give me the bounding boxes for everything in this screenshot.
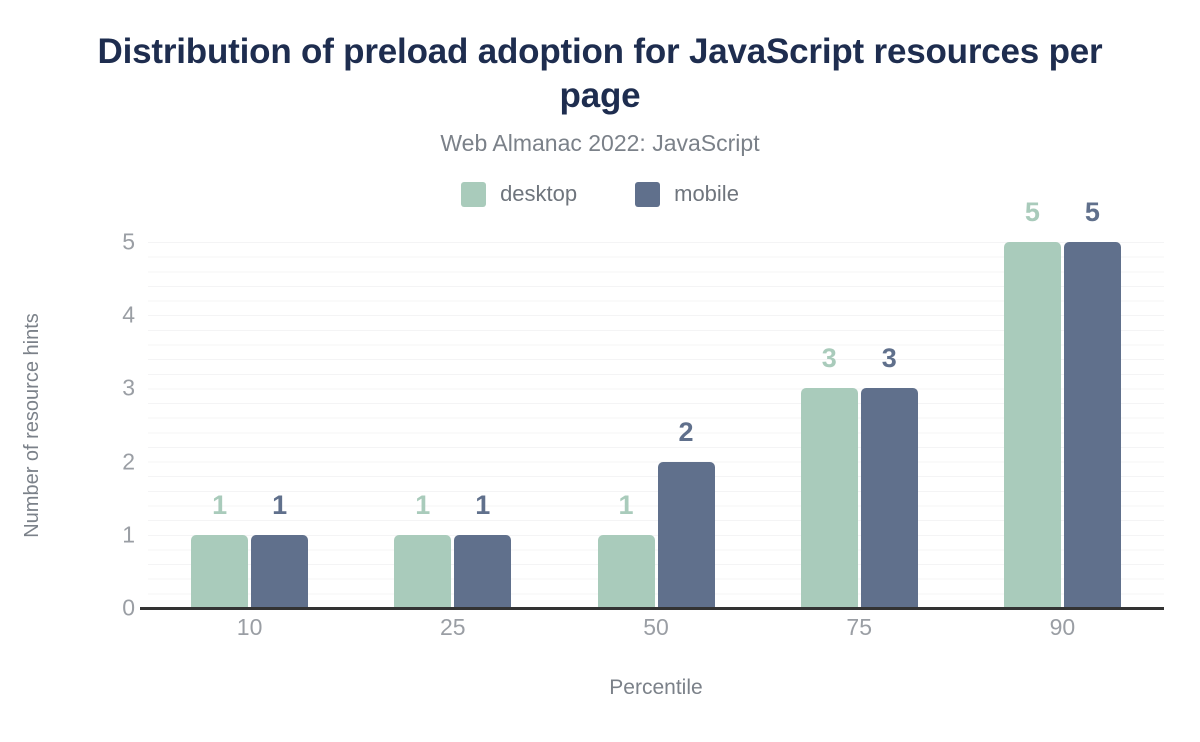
- x-axis-title: Percentile: [148, 676, 1164, 700]
- bar-group: 11: [148, 242, 351, 608]
- bar-mobile[interactable]: [454, 535, 511, 608]
- x-tick-label: 90: [961, 614, 1164, 641]
- y-tick-label: 3: [95, 375, 135, 402]
- x-axis-line: [140, 607, 1164, 610]
- bar-value-label: 2: [658, 417, 715, 448]
- legend-item-mobile[interactable]: mobile: [635, 181, 739, 207]
- bar-value-label: 1: [454, 490, 511, 521]
- legend-item-desktop[interactable]: desktop: [461, 181, 577, 207]
- bar-wrap-mobile: 2: [658, 242, 715, 608]
- bar-wrap-mobile: 5: [1064, 242, 1121, 608]
- bar-value-label: 5: [1004, 197, 1061, 228]
- bar-group: 11: [351, 242, 554, 608]
- y-tick-label: 2: [95, 448, 135, 475]
- bar-wrap-desktop: 3: [801, 242, 858, 608]
- y-tick-label: 0: [95, 595, 135, 622]
- bar-desktop[interactable]: [394, 535, 451, 608]
- bar-value-label: 1: [251, 490, 308, 521]
- bar-wrap-desktop: 1: [394, 242, 451, 608]
- bar-value-label: 1: [598, 490, 655, 521]
- x-tick-label: 75: [758, 614, 961, 641]
- x-tick-label: 25: [351, 614, 554, 641]
- bar-desktop[interactable]: [191, 535, 248, 608]
- legend-label-mobile: mobile: [674, 181, 739, 207]
- bar-wrap-mobile: 1: [251, 242, 308, 608]
- bar-wrap-mobile: 1: [454, 242, 511, 608]
- bar-wrap-desktop: 1: [191, 242, 248, 608]
- y-axis-tick-labels: 012345: [95, 242, 135, 608]
- bar-value-label: 1: [191, 490, 248, 521]
- bar-group: 12: [554, 242, 757, 608]
- bar-mobile[interactable]: [658, 462, 715, 608]
- x-tick-label: 10: [148, 614, 351, 641]
- legend-swatch-desktop: [461, 182, 486, 207]
- bar-mobile[interactable]: [861, 388, 918, 608]
- bar-desktop[interactable]: [598, 535, 655, 608]
- x-axis-tick-labels: 1025507590: [148, 614, 1164, 641]
- bar-group: 33: [758, 242, 961, 608]
- bar-mobile[interactable]: [251, 535, 308, 608]
- bar-value-label: 5: [1064, 197, 1121, 228]
- chart-subtitle: Web Almanac 2022: JavaScript: [60, 130, 1140, 157]
- bar-wrap-mobile: 3: [861, 242, 918, 608]
- bar-value-label: 1: [394, 490, 451, 521]
- y-tick-label: 1: [95, 521, 135, 548]
- page-title: Distribution of preload adoption for Jav…: [60, 30, 1140, 118]
- bar-value-label: 3: [801, 343, 858, 374]
- y-tick-label: 5: [95, 229, 135, 256]
- plot-area: 1111123355: [148, 242, 1164, 608]
- y-axis-title: Number of resource hints: [12, 242, 52, 608]
- bar-wrap-desktop: 1: [598, 242, 655, 608]
- chart-canvas: Distribution of preload adoption for Jav…: [0, 0, 1200, 742]
- bar-group: 55: [961, 242, 1164, 608]
- bar-groups: 1111123355: [148, 242, 1164, 608]
- bar-desktop[interactable]: [1004, 242, 1061, 608]
- y-axis-title-text: Number of resource hints: [21, 313, 44, 538]
- bar-wrap-desktop: 5: [1004, 242, 1061, 608]
- legend-swatch-mobile: [635, 182, 660, 207]
- y-tick-label: 4: [95, 302, 135, 329]
- bar-desktop[interactable]: [801, 388, 858, 608]
- bar-value-label: 3: [861, 343, 918, 374]
- legend-label-desktop: desktop: [500, 181, 577, 207]
- bar-mobile[interactable]: [1064, 242, 1121, 608]
- x-tick-label: 50: [554, 614, 757, 641]
